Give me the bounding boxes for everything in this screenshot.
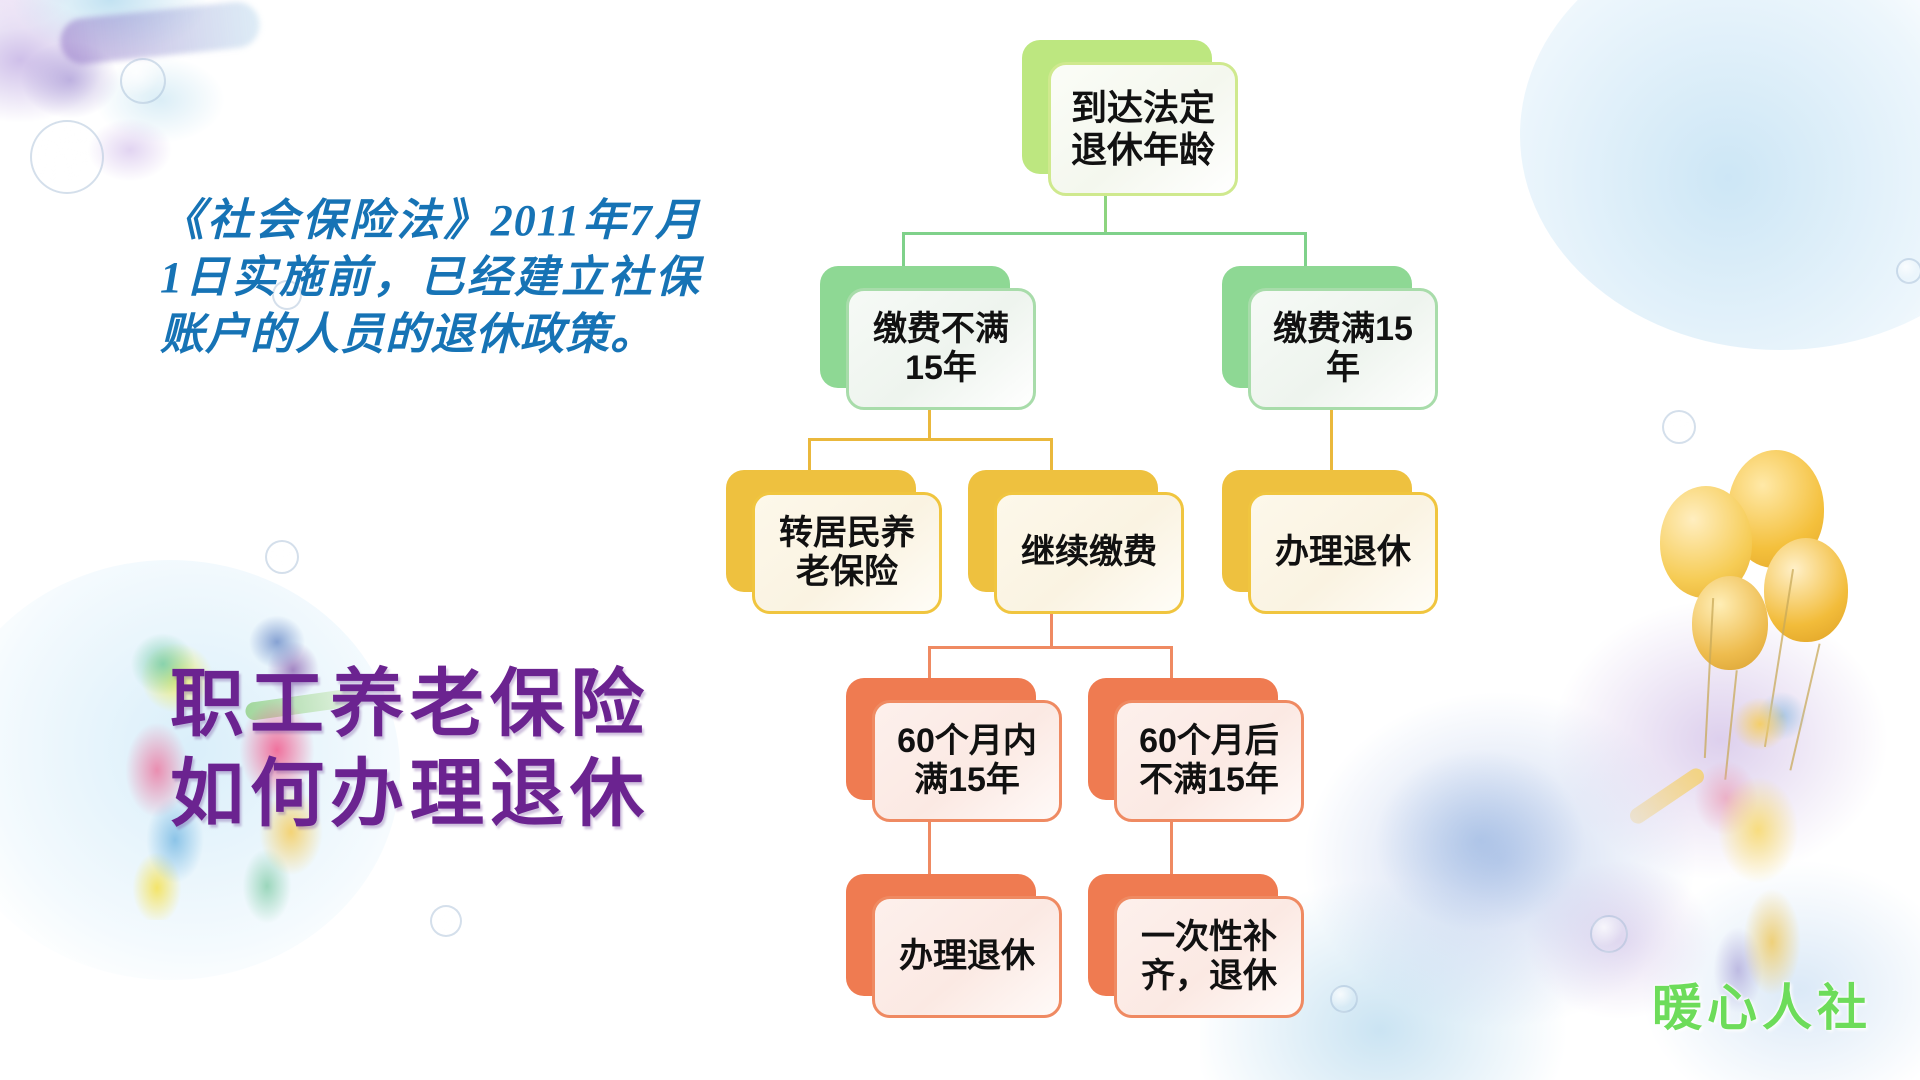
intro-paragraph: 《社会保险法》2011年7月1日实施前，已经建立社保账户的人员的退休政策。 — [160, 192, 700, 364]
node-label-line-2: 老保险 — [773, 553, 921, 592]
node-contribution-under-15-years[interactable]: 缴费不满 15年 — [820, 266, 1010, 388]
node-contribution-15-years-or-more[interactable]: 缴费满15 年 — [1222, 266, 1412, 388]
bubble-icon — [265, 540, 299, 574]
connector-to-over15 — [1304, 232, 1307, 268]
node-label-line-2: 不满15年 — [1133, 761, 1285, 800]
node-reaches-15-years-within-60-months[interactable]: 60个月内 满15年 — [846, 678, 1036, 800]
page-title: 职工养老保险 如何办理退休 — [170, 660, 790, 841]
connector-to-transfer — [808, 438, 811, 472]
node-label-line-1: 转居民养 — [773, 514, 921, 553]
node-label-line-1: 60个月后 — [1133, 722, 1285, 761]
node-card: 继续缴费 — [994, 492, 1184, 614]
node-card: 缴费满15 年 — [1248, 288, 1438, 410]
node-card: 60个月内 满15年 — [872, 700, 1062, 822]
node-lump-sum-payment-then-retire[interactable]: 一次性补 齐，退休 — [1088, 874, 1278, 996]
node-card: 一次性补 齐，退休 — [1114, 896, 1304, 1018]
node-label-line-1: 缴费不满 — [867, 310, 1015, 349]
page-title-line-2: 如何办理退休 — [170, 750, 790, 840]
node-label-line-2: 满15年 — [891, 761, 1043, 800]
bubble-icon — [30, 120, 104, 194]
node-label-line-2: 年 — [1267, 349, 1419, 388]
bubble-icon — [120, 58, 166, 104]
node-label-line-1: 到达法定 — [1065, 87, 1221, 129]
node-label-line-1: 办理退休 — [1269, 533, 1417, 572]
node-process-retirement-bottom[interactable]: 办理退休 — [846, 874, 1036, 996]
node-card: 缴费不满 15年 — [846, 288, 1036, 410]
connector-level3-bus — [808, 438, 1052, 441]
connector-root-down — [1104, 196, 1107, 232]
node-label-line-1: 办理退休 — [893, 937, 1041, 976]
node-process-retirement-right[interactable]: 办理退休 — [1222, 470, 1412, 592]
slide-canvas: 《社会保险法》2011年7月1日实施前，已经建立社保账户的人员的退休政策。 职工… — [0, 0, 1920, 1080]
node-label-line-2: 15年 — [867, 349, 1015, 388]
connector-to-under15 — [902, 232, 905, 268]
node-card: 60个月后 不满15年 — [1114, 700, 1304, 822]
connector-level4-bus — [928, 646, 1172, 649]
node-card: 办理退休 — [1248, 492, 1438, 614]
node-label-line-1: 继续缴费 — [1015, 533, 1163, 572]
node-reach-legal-retirement-age[interactable]: 到达法定 退休年龄 — [1022, 40, 1212, 174]
watercolor-streak — [58, 0, 262, 66]
bubble-icon — [430, 905, 462, 937]
node-label-line-1: 缴费满15 — [1267, 310, 1419, 349]
node-continue-contributing[interactable]: 继续缴费 — [968, 470, 1158, 592]
connector-continue-down — [1050, 610, 1053, 646]
connector-level2-bus — [902, 232, 1306, 235]
node-label-line-1: 60个月内 — [891, 722, 1043, 761]
node-label-line-2: 齐，退休 — [1135, 957, 1283, 996]
connector-to-within60 — [928, 646, 931, 682]
node-card: 到达法定 退休年龄 — [1048, 62, 1238, 196]
node-under-15-years-after-60-months[interactable]: 60个月后 不满15年 — [1088, 678, 1278, 800]
node-transfer-to-residents-pension[interactable]: 转居民养 老保险 — [726, 470, 916, 592]
connector-over15-to-retire — [1330, 404, 1333, 472]
node-label-line-2: 退休年龄 — [1065, 129, 1221, 171]
connector-to-after60 — [1170, 646, 1173, 682]
node-card: 办理退休 — [872, 896, 1062, 1018]
page-title-line-1: 职工养老保险 — [170, 660, 790, 750]
connector-to-continue — [1050, 438, 1053, 472]
node-card: 转居民养 老保险 — [752, 492, 942, 614]
retirement-flowchart: 到达法定 退休年龄 缴费不满 15年 缴费满15 年 — [760, 0, 1920, 1080]
node-label-line-1: 一次性补 — [1135, 918, 1283, 957]
